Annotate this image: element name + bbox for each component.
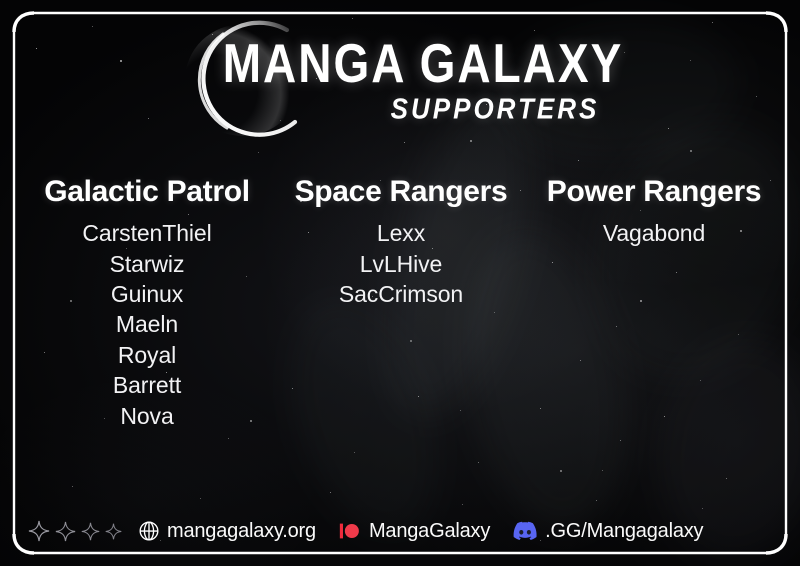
column-name-list: CarstenThiel Starwiz Guinux Maeln Royal … <box>18 218 276 431</box>
supporter-name: LvLHive <box>276 249 526 279</box>
logo-title: MANGA GALAXY <box>177 36 624 90</box>
logo-subtitle: SUPPORTERS <box>0 94 800 123</box>
discord-icon <box>512 521 538 541</box>
supporter-name: Vagabond <box>526 218 782 248</box>
supporter-column-space-rangers: Space Rangers Lexx LvLHive SacCrimson <box>276 176 526 309</box>
column-title: Space Rangers <box>276 176 526 208</box>
supporter-name: CarstenThiel <box>18 218 276 248</box>
logo-block: MANGA GALAXY SUPPORTERS <box>0 36 800 120</box>
supporter-columns: Galactic Patrol CarstenThiel Starwiz Gui… <box>18 176 782 431</box>
footer-link-youtube[interactable]: MangaGalaxy <box>338 520 490 543</box>
footer-link-discord[interactable]: .GG/Mangagalaxy <box>512 520 703 543</box>
sparkle-decoration-group <box>28 520 122 542</box>
supporter-name: Starwiz <box>18 249 276 279</box>
column-name-list: Vagabond <box>526 218 782 248</box>
sparkle-star-icon <box>28 520 50 542</box>
supporter-name: Royal <box>18 340 276 370</box>
supporter-name: Nova <box>18 401 276 431</box>
supporter-name: Lexx <box>276 218 526 248</box>
globe-icon <box>138 520 160 542</box>
footer-link-label: mangagalaxy.org <box>167 520 316 543</box>
footer-bar: mangagalaxy.org MangaGalaxy .GG/Mangagal… <box>28 514 772 548</box>
footer-link-website[interactable]: mangagalaxy.org <box>138 520 316 543</box>
column-title: Galactic Patrol <box>18 176 276 208</box>
column-title: Power Rangers <box>526 176 782 208</box>
footer-link-label: .GG/Mangagalaxy <box>545 520 703 543</box>
sparkle-star-icon <box>81 522 100 541</box>
supporter-name: Barrett <box>18 370 276 400</box>
supporter-column-power-rangers: Power Rangers Vagabond <box>526 176 782 249</box>
sparkle-star-icon <box>55 521 76 542</box>
supporter-name: Guinux <box>18 279 276 309</box>
youtube-icon <box>338 520 362 542</box>
sparkle-star-icon <box>105 523 122 540</box>
starfield-bright <box>0 0 2 2</box>
footer-link-label: MangaGalaxy <box>369 520 490 543</box>
supporters-poster: MANGA GALAXY SUPPORTERS Galactic Patrol … <box>0 0 800 566</box>
supporter-name: Maeln <box>18 309 276 339</box>
supporter-column-galactic-patrol: Galactic Patrol CarstenThiel Starwiz Gui… <box>18 176 276 431</box>
column-name-list: Lexx LvLHive SacCrimson <box>276 218 526 309</box>
supporter-name: SacCrimson <box>276 279 526 309</box>
